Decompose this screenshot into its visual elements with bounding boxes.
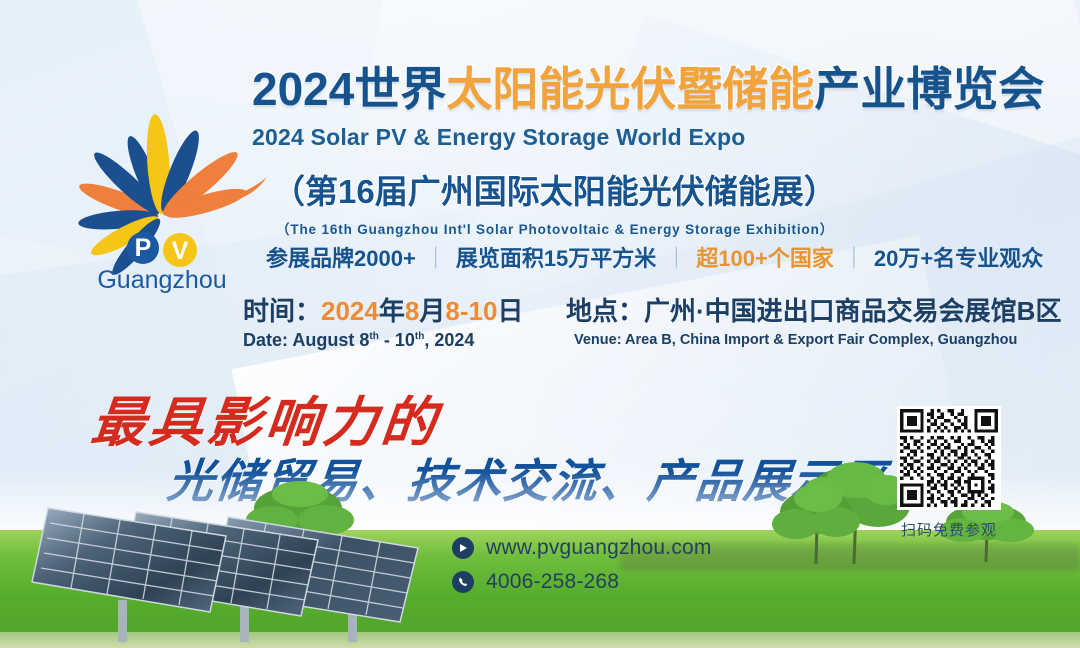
contact-phone[interactable]: 4006-258-268 bbox=[486, 570, 619, 594]
date-en-day-end-sup: th bbox=[415, 331, 424, 342]
solar-panel-array bbox=[18, 482, 448, 642]
expo-title-cn-part2: 太阳能光伏暨储能 bbox=[446, 63, 814, 115]
date-day-end: 10 bbox=[469, 296, 498, 326]
stats-separator-1: ｜ bbox=[425, 241, 447, 273]
date-block: 时间：2024年8月8-10日 Date: August 8th - 10th,… bbox=[243, 296, 523, 351]
venue-label-cn: 地点： bbox=[566, 296, 644, 326]
date-label-cn: 时间： bbox=[243, 296, 321, 326]
date-year-unit: 年 bbox=[379, 296, 405, 326]
date-dash: - bbox=[460, 296, 469, 326]
qr-block: 扫码免费参观 bbox=[897, 406, 1001, 540]
expo-title-cn-part3: 产业博览会 bbox=[814, 63, 1044, 115]
stat-item-countries: 超100+个国家 bbox=[696, 241, 834, 273]
contact-block: www.pvguangzhou.com 4006-258-268 bbox=[452, 536, 712, 604]
tree-medium bbox=[770, 478, 880, 564]
qr-caption: 扫码免费参观 bbox=[897, 519, 1001, 540]
logo-letter-p: P bbox=[135, 234, 152, 262]
contact-row-website[interactable]: www.pvguangzhou.com bbox=[452, 536, 712, 560]
date-en-dash: - bbox=[384, 330, 390, 350]
date-en: Date: August 8th - 10th, 2024 bbox=[243, 330, 523, 351]
expo-subtitle-en: （The 16th Guangzhou Int'l Solar Photovol… bbox=[276, 218, 1052, 238]
date-day-start: 8 bbox=[445, 296, 459, 326]
date-en-label: Date: bbox=[243, 330, 288, 350]
stat-item-visitors: 20万+名专业观众 bbox=[874, 241, 1043, 273]
headline-block: 2024世界太阳能光伏暨储能产业博览会 2024 Solar PV & Ener… bbox=[252, 62, 1052, 238]
stat-item-brands: 参展品牌2000+ bbox=[266, 241, 416, 273]
play-circle-icon bbox=[452, 537, 474, 559]
date-en-year: , 2024 bbox=[424, 330, 474, 350]
venue-block: 地点：广州·中国进出口商品交易会展馆B区 Venue: Area B, Chin… bbox=[566, 296, 1061, 348]
date-en-day-end: 10 bbox=[395, 330, 415, 350]
date-en-day-start: 8 bbox=[359, 330, 369, 350]
stats-separator-2: ｜ bbox=[665, 241, 687, 273]
stats-separator-3: ｜ bbox=[843, 241, 865, 273]
stat-item-area: 展览面积15万平方米 bbox=[456, 241, 656, 273]
expo-title-cn: 2024世界太阳能光伏暨储能产业博览会 bbox=[252, 62, 1052, 116]
date-en-month: August bbox=[292, 330, 354, 350]
date-month: 8 bbox=[405, 296, 419, 326]
logo-letter-v: V bbox=[172, 237, 189, 265]
date-cn: 时间：2024年8月8-10日 bbox=[243, 296, 523, 328]
phone-circle-icon bbox=[452, 571, 474, 593]
venue-cn: 地点：广州·中国进出口商品交易会展馆B区 bbox=[566, 296, 1061, 328]
date-day-unit: 日 bbox=[497, 296, 523, 326]
date-year: 2024 bbox=[321, 296, 379, 326]
date-month-unit: 月 bbox=[419, 296, 445, 326]
logo-wordmark: Guangzhou bbox=[97, 266, 226, 294]
contact-website[interactable]: www.pvguangzhou.com bbox=[486, 536, 712, 560]
expo-title-en: 2024 Solar PV & Energy Storage World Exp… bbox=[252, 124, 1052, 151]
stats-strip: 参展品牌2000+ ｜ 展览面积15万平方米 ｜ 超100+个国家 ｜ 20万+… bbox=[266, 241, 1043, 273]
venue-value-cn: 广州·中国进出口商品交易会展馆B区 bbox=[644, 296, 1061, 326]
venue-en: Venue: Area B, China Import & Export Fai… bbox=[574, 332, 1061, 348]
date-en-day-start-sup: th bbox=[369, 331, 378, 342]
qr-code-icon[interactable] bbox=[897, 406, 1001, 510]
expo-title-cn-part1: 2024世界 bbox=[252, 63, 446, 115]
expo-poster: P V Guangzhou 2024世界太阳能光伏暨储能产业博览会 2024 S… bbox=[0, 0, 1080, 648]
contact-row-phone[interactable]: 4006-258-268 bbox=[452, 570, 712, 594]
expo-subtitle-cn: （第16届广州国际太阳能光伏储能展） bbox=[272, 165, 1052, 213]
